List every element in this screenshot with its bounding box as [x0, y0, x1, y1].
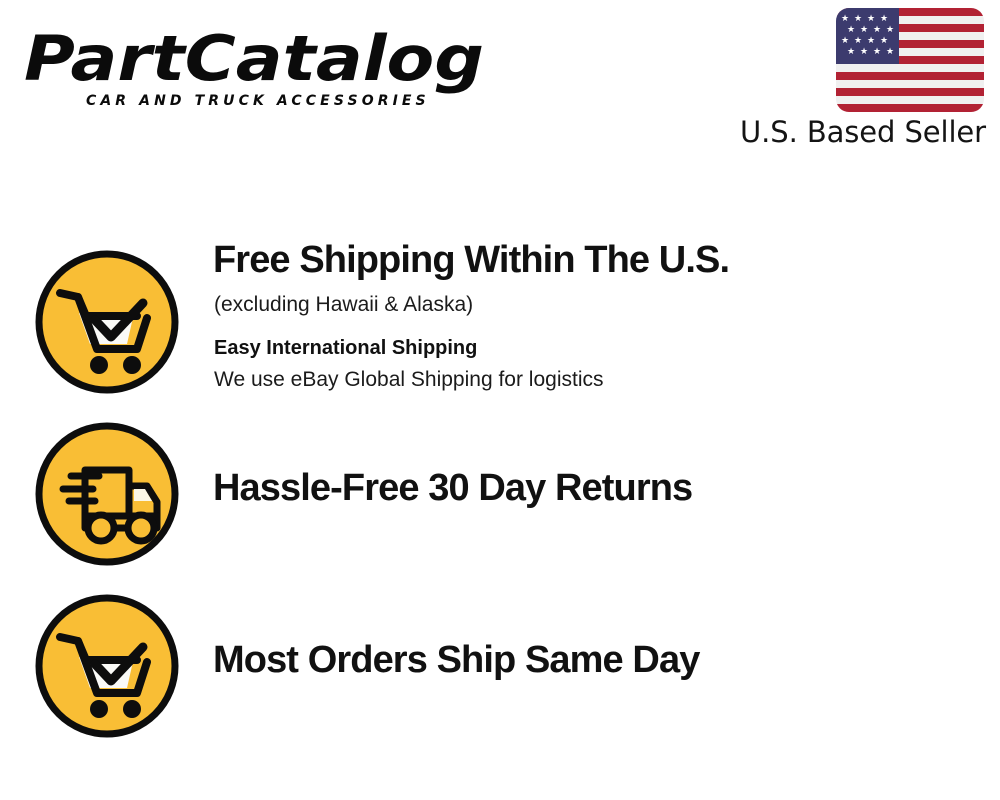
- svg-text:★: ★: [880, 36, 888, 46]
- brand-tagline-icon: CAR AND TRUCK ACCESSORIES: [86, 90, 486, 110]
- svg-text:★: ★: [854, 14, 862, 24]
- feature-text-block: Hassle-Free 30 Day Returns: [213, 410, 1000, 509]
- svg-text:PartCatalog: PartCatalog: [24, 22, 484, 94]
- us-based-seller-block: ★★★★ ★★★★ ★★★★ ★★★★ U.S. Based Seller: [696, 8, 986, 147]
- svg-text:★: ★: [841, 36, 849, 46]
- svg-text:★: ★: [847, 47, 855, 57]
- feature-badge-slot: [0, 238, 213, 396]
- feature-row: Free Shipping Within The U.S. (excluding…: [0, 238, 1000, 396]
- feature-text-block: Free Shipping Within The U.S. (excluding…: [213, 238, 1000, 392]
- svg-text:★: ★: [847, 25, 855, 35]
- feature-sub-title: Easy International Shipping: [214, 336, 1000, 360]
- feature-row: Hassle-Free 30 Day Returns: [0, 410, 1000, 568]
- svg-text:★: ★: [867, 36, 875, 46]
- svg-text:★: ★: [841, 14, 849, 24]
- svg-text:★: ★: [873, 25, 881, 35]
- svg-text:CAR AND TRUCK ACCESSORIES: CAR AND TRUCK ACCESSORIES: [86, 93, 430, 109]
- feature-note: (excluding Hawaii & Alaska): [214, 292, 1000, 317]
- feature-text-block: Most Orders Ship Same Day: [213, 582, 1000, 681]
- feature-badge-slot: [0, 582, 213, 740]
- svg-text:★: ★: [854, 36, 862, 46]
- brand-logo: PartCatalog CAR AND TRUCK ACCESSORIES Pa…: [24, 22, 494, 110]
- banner-header: PartCatalog CAR AND TRUCK ACCESSORIES Pa…: [0, 0, 1000, 175]
- delivery-truck-icon: [33, 420, 181, 568]
- shopping-cart-check-icon: [33, 248, 181, 396]
- feature-heading: Free Shipping Within The U.S.: [213, 238, 1000, 281]
- feature-heading: Hassle-Free 30 Day Returns: [213, 410, 1000, 509]
- svg-text:★: ★: [886, 47, 894, 57]
- shopping-cart-check-icon: [33, 592, 181, 740]
- us-flag-icon: ★★★★ ★★★★ ★★★★ ★★★★: [836, 8, 984, 112]
- us-based-seller-label: U.S. Based Seller: [696, 117, 986, 147]
- feature-sub-text: We use eBay Global Shipping for logistic…: [214, 367, 1000, 392]
- svg-text:★: ★: [880, 14, 888, 24]
- svg-text:★: ★: [860, 47, 868, 57]
- feature-row: Most Orders Ship Same Day: [0, 582, 1000, 740]
- svg-text:★: ★: [886, 25, 894, 35]
- feature-heading: Most Orders Ship Same Day: [213, 582, 1000, 681]
- svg-text:★: ★: [867, 14, 875, 24]
- promo-banner: PartCatalog CAR AND TRUCK ACCESSORIES Pa…: [0, 0, 1000, 800]
- partcatalog-wordmark-icon: PartCatalog: [24, 22, 486, 94]
- svg-text:★: ★: [873, 47, 881, 57]
- svg-text:★: ★: [860, 25, 868, 35]
- feature-badge-slot: [0, 410, 213, 568]
